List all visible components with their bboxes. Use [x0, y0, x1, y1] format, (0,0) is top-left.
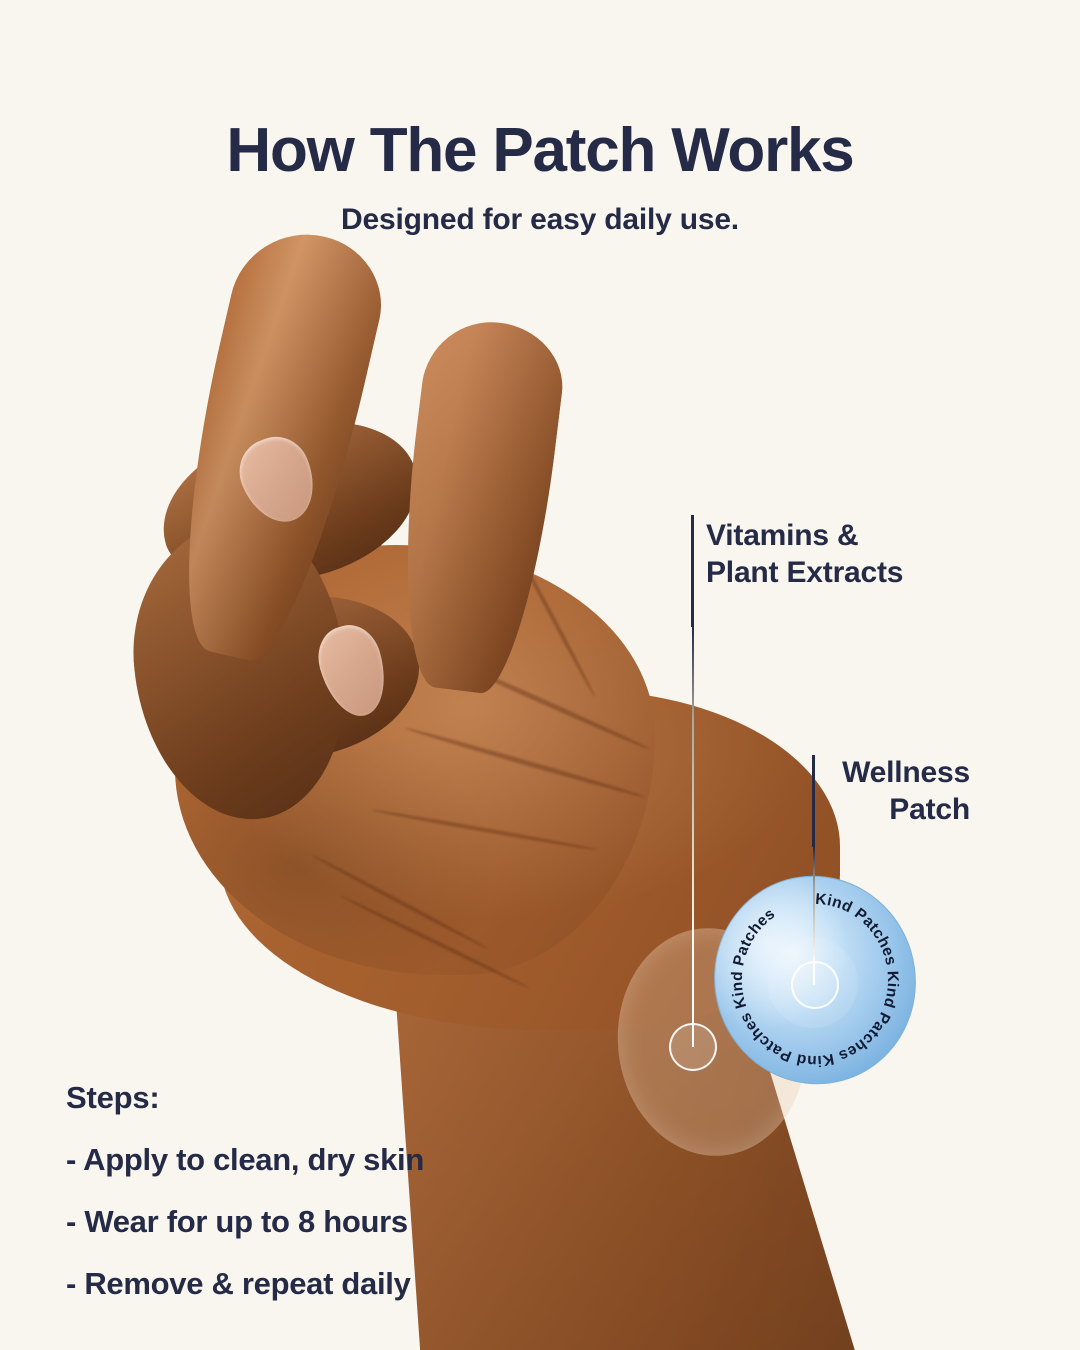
steps-block: Steps: - Apply to clean, dry skin - Wear… [66, 1080, 424, 1302]
step-item: - Wear for up to 8 hours [66, 1204, 424, 1240]
callout-line-dark-segment [691, 515, 694, 627]
poster-canvas: How The Patch Works Designed for easy da… [0, 0, 1080, 1350]
callout-label-line-1: Wellness [828, 755, 970, 792]
callout-label-line-2: Patch [828, 792, 970, 829]
callout-endpoint-wellness [791, 961, 839, 1009]
callout-label-vitamins: Vitamins & Plant Extracts [706, 518, 903, 591]
step-item: - Apply to clean, dry skin [66, 1142, 424, 1178]
steps-heading: Steps: [66, 1080, 424, 1116]
callout-label-wellness: Wellness Patch [828, 755, 970, 828]
callout-label-line-2: Plant Extracts [706, 555, 903, 592]
callout-label-line-1: Vitamins & [706, 518, 903, 555]
callout-line-dark-segment [812, 755, 815, 847]
callout-endpoint-vitamins [669, 1023, 717, 1071]
step-item: - Remove & repeat daily [66, 1266, 424, 1302]
callout-line-fade-segment [692, 627, 694, 1047]
